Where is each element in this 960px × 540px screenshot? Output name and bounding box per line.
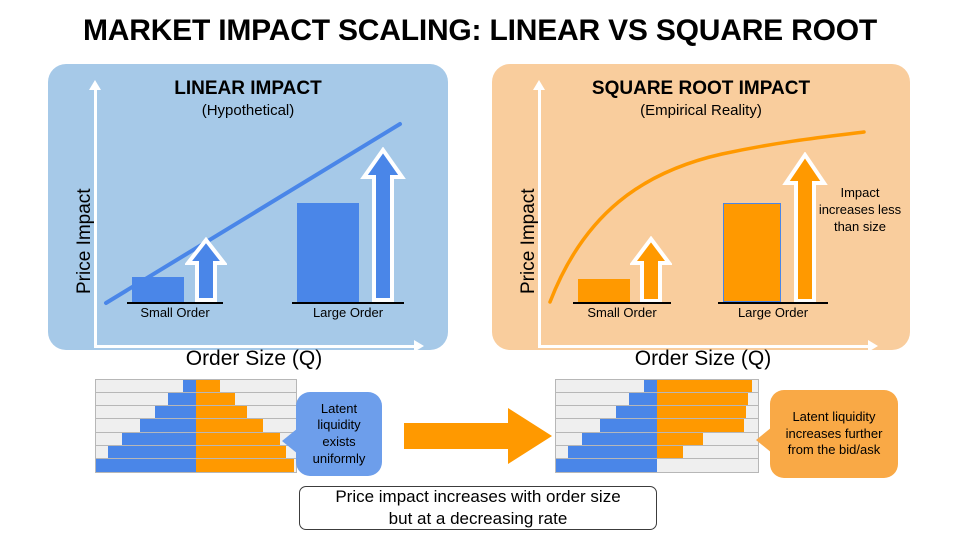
- ask-depth-bar: [657, 419, 744, 431]
- bid-depth-bar: [600, 419, 657, 431]
- axis-arrow-up-icon: [89, 80, 101, 90]
- up-arrow-icon-small-linear: [185, 237, 227, 303]
- panel-subtitle-linear: (Hypothetical): [48, 102, 448, 119]
- axis-arrow-right-icon: [414, 340, 424, 352]
- order-book-row: [556, 406, 758, 419]
- panel-title-linear: LINEAR IMPACT: [48, 78, 448, 100]
- bid-depth-bar: [582, 433, 657, 445]
- order-book-row: [556, 459, 758, 472]
- category-rule-small-linear: [127, 302, 223, 304]
- order-book-uniform: [95, 379, 297, 473]
- category-label-small-linear: Small Order: [127, 305, 223, 320]
- bid-depth-bar: [629, 393, 657, 405]
- up-arrow-icon-large-linear: [360, 147, 406, 303]
- panel-square-root-impact: SQUARE ROOT IMPACT (Empirical Reality) P…: [492, 64, 910, 350]
- order-book-row: [96, 380, 296, 393]
- bid-depth-bar: [155, 406, 196, 418]
- bar-small-order-linear: [132, 277, 184, 302]
- x-axis-label-sqrt: Order Size (Q): [538, 347, 868, 371]
- bottom-caption-line1: Price impact increases with order size: [335, 487, 620, 506]
- callout-left-text: Latent liquidity exists uniformly: [304, 401, 374, 468]
- ask-depth-bar: [657, 393, 748, 405]
- bid-depth-bar: [108, 446, 196, 458]
- order-book-row: [556, 433, 758, 446]
- ask-depth-bar: [657, 446, 683, 458]
- panel-subtitle-sqrt: (Empirical Reality): [492, 102, 910, 119]
- order-book-row: [96, 433, 296, 446]
- order-book-increasing: [555, 379, 759, 473]
- panel-linear-impact: LINEAR IMPACT (Hypothetical) Price Impac…: [48, 64, 448, 350]
- y-axis-label-sqrt: Price Impact: [518, 188, 540, 294]
- bar-large-order-sqrt: [723, 203, 781, 302]
- bar-small-order-sqrt: [578, 279, 630, 302]
- bid-depth-bar: [140, 419, 196, 431]
- ask-depth-bar: [196, 380, 220, 392]
- y-axis-label-linear: Price Impact: [74, 188, 96, 294]
- bid-depth-bar: [96, 459, 196, 472]
- axis-arrow-up-icon: [533, 80, 545, 90]
- order-book-row: [556, 380, 758, 393]
- callout-latent-liquidity-increases: Latent liquidity increases further from …: [770, 390, 898, 478]
- bottom-caption: Price impact increases with order size b…: [299, 486, 657, 530]
- bid-depth-bar: [616, 406, 657, 418]
- order-book-row: [96, 419, 296, 432]
- category-rule-large-linear: [292, 302, 404, 304]
- callout-right-text: Latent liquidity increases further from …: [778, 409, 890, 459]
- order-book-row: [96, 459, 296, 472]
- category-rule-small-sqrt: [573, 302, 671, 304]
- category-rule-large-sqrt: [718, 302, 828, 304]
- bid-depth-bar: [168, 393, 196, 405]
- order-book-row: [556, 393, 758, 406]
- category-label-small-sqrt: Small Order: [573, 305, 671, 320]
- ask-depth-bar: [196, 459, 294, 472]
- ask-depth-bar: [196, 446, 286, 458]
- ask-depth-bar: [196, 406, 247, 418]
- bid-depth-bar: [644, 380, 657, 392]
- panel-title-sqrt: SQUARE ROOT IMPACT: [492, 78, 910, 100]
- up-arrow-icon-small-sqrt: [630, 236, 672, 304]
- annotation-impact-increases-less: Impact increases less than size: [814, 184, 906, 235]
- page-title: MARKET IMPACT SCALING: LINEAR VS SQUARE …: [0, 14, 960, 48]
- category-label-large-linear: Large Order: [292, 305, 404, 320]
- bottom-caption-line2: but at a decreasing rate: [389, 509, 568, 528]
- ask-depth-bar: [196, 393, 235, 405]
- order-book-row: [96, 393, 296, 406]
- x-axis-label-linear: Order Size (Q): [94, 347, 414, 371]
- order-book-row: [96, 406, 296, 419]
- ask-depth-bar: [657, 380, 752, 392]
- ask-depth-bar: [657, 406, 746, 418]
- bid-depth-bar: [183, 380, 196, 392]
- category-label-large-sqrt: Large Order: [718, 305, 828, 320]
- right-arrow-icon: [404, 408, 552, 464]
- ask-depth-bar: [657, 433, 703, 445]
- axis-arrow-right-icon: [868, 340, 878, 352]
- order-book-row: [556, 419, 758, 432]
- bid-depth-bar: [556, 459, 657, 472]
- callout-latent-liquidity-uniform: Latent liquidity exists uniformly: [296, 392, 382, 476]
- ask-depth-bar: [196, 433, 280, 445]
- bid-depth-bar: [568, 446, 657, 458]
- order-book-row: [96, 446, 296, 459]
- ask-depth-bar: [196, 419, 263, 431]
- order-book-row: [556, 446, 758, 459]
- bar-large-order-linear: [297, 203, 359, 302]
- bid-depth-bar: [122, 433, 196, 445]
